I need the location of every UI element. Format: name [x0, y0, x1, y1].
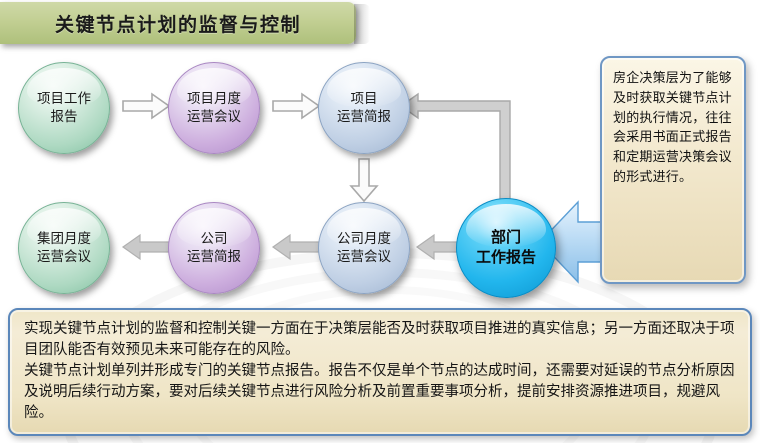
arrow-dept-to-cmm: [416, 234, 460, 260]
node-company-monthly-meeting[interactable]: 公司月度 运营会议: [318, 202, 410, 294]
arrow-pmm-to-pb: [272, 93, 320, 119]
node-label: 项目 运营简报: [337, 90, 391, 126]
node-label: 公司 运营简报: [187, 230, 241, 266]
callout-text: 房企决策层为了能够及时获取关键节点计划的执行情况，往往会采用书面正式报告和定期运…: [613, 70, 732, 184]
node-company-operation-brief[interactable]: 公司 运营简报: [168, 202, 260, 294]
slide-canvas: 关键节点计划的监督与控制: [0, 0, 760, 443]
summary-paragraph-1: 实现关键节点计划的监督和控制关键一方面在于决策层能否及时获取项目推进的真实信息；…: [24, 319, 736, 361]
arrow-cb-to-gmm: [122, 234, 170, 260]
summary-box: 实现关键节点计划的监督和控制关键一方面在于决策层能否及时获取项目推进的真实信息；…: [8, 308, 752, 436]
node-label: 集团月度 运营会议: [37, 230, 91, 266]
node-label: 项目月度 运营会议: [187, 90, 241, 126]
node-project-operation-brief[interactable]: 项目 运营简报: [318, 62, 410, 154]
callout-box: 房企决策层为了能够及时获取关键节点计划的执行情况，往往会采用书面正式报告和定期运…: [600, 56, 746, 284]
node-label: 项目工作 报告: [37, 90, 91, 126]
node-group-monthly-meeting[interactable]: 集团月度 运营会议: [18, 202, 110, 294]
summary-paragraph-2: 关键节点计划单列并形成专门的关键节点报告。报告不仅是单个节点的达成时间，还需要对…: [24, 361, 736, 424]
node-label: 公司月度 运营会议: [337, 230, 391, 266]
node-label: 部门 工作报告: [476, 228, 536, 269]
page-title: 关键节点计划的监督与控制: [55, 10, 301, 37]
arrow-pb-down-cmm: [349, 158, 379, 202]
arrow-dept-to-pb: [400, 92, 530, 212]
page-title-banner: 关键节点计划的监督与控制: [0, 2, 356, 44]
arrow-cmm-to-cb: [272, 234, 320, 260]
node-project-work-report[interactable]: 项目工作 报告: [18, 62, 110, 154]
node-department-work-report[interactable]: 部门 工作报告: [456, 198, 556, 298]
node-project-monthly-meeting[interactable]: 项目月度 运营会议: [168, 62, 260, 154]
arrow-pm-to-pmm: [122, 93, 170, 119]
